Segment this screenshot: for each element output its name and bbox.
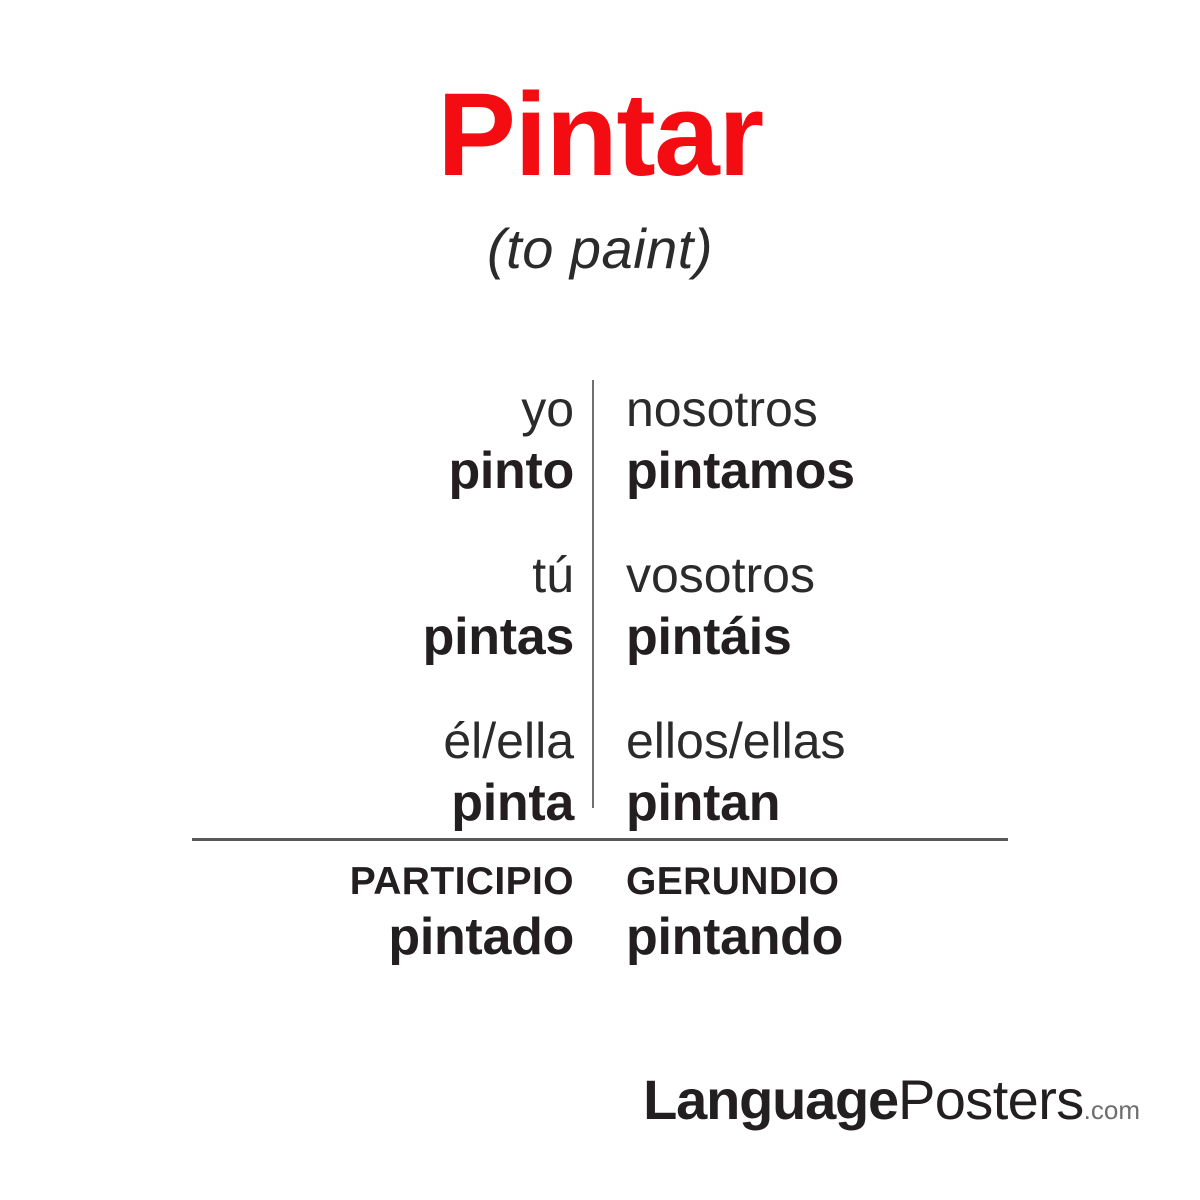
pronoun-label: yo: [0, 378, 574, 440]
verb-form: pintas: [0, 606, 574, 668]
verb-title: Pintar: [0, 76, 1200, 194]
conjugation-table: yo pinto nosotros pintamos tú pintas vos…: [0, 378, 1200, 810]
row-spacer: [592, 668, 1200, 710]
nonfinite-forms: PARTICIPIO pintado GERUNDIO pintando: [0, 858, 1200, 968]
row-spacer: [0, 502, 592, 544]
row-spacer: [592, 502, 1200, 544]
pronoun-label: tú: [0, 544, 574, 606]
conjugation-cell-vosotros: vosotros pintáis: [592, 544, 1200, 668]
verb-conjugation-poster: Pintar (to paint) yo pinto nosotros pint…: [0, 0, 1200, 1200]
poster-footer: LanguagePosters.com: [0, 1072, 1200, 1128]
verb-translation: (to paint): [0, 216, 1200, 281]
conjugation-cell-nosotros: nosotros pintamos: [592, 378, 1200, 502]
conjugation-cell-yo: yo pinto: [0, 378, 592, 502]
logo-tld: .com: [1084, 1095, 1140, 1125]
poster-header: Pintar (to paint): [0, 76, 1200, 281]
verb-form: pinto: [0, 440, 574, 502]
conjugation-cell-el-ella: él/ella pinta: [0, 710, 592, 834]
languageposters-logo[interactable]: LanguagePosters.com: [643, 1072, 1140, 1128]
logo-word-language: Language: [643, 1068, 898, 1131]
conjugation-cell-ellos-ellas: ellos/ellas pintan: [592, 710, 1200, 834]
pronoun-label: vosotros: [626, 544, 1200, 606]
conjugation-cell-tu: tú pintas: [0, 544, 592, 668]
pronoun-label: nosotros: [626, 378, 1200, 440]
pronoun-label: él/ella: [0, 710, 574, 772]
verb-form: pintamos: [626, 440, 1200, 502]
verb-form: pintáis: [626, 606, 1200, 668]
gerund-label: GERUNDIO: [626, 858, 1200, 906]
gerund-value: pintando: [626, 906, 1200, 968]
participle-value: pintado: [0, 906, 574, 968]
logo-word-posters: Posters: [898, 1068, 1084, 1131]
section-divider: [192, 838, 1008, 841]
verb-form: pinta: [0, 772, 574, 834]
participle-block: PARTICIPIO pintado: [0, 858, 592, 968]
conjugation-grid: yo pinto nosotros pintamos tú pintas vos…: [0, 378, 1200, 834]
row-spacer: [0, 668, 592, 710]
gerund-block: GERUNDIO pintando: [592, 858, 1200, 968]
verb-form: pintan: [626, 772, 1200, 834]
pronoun-label: ellos/ellas: [626, 710, 1200, 772]
participle-label: PARTICIPIO: [0, 858, 574, 906]
